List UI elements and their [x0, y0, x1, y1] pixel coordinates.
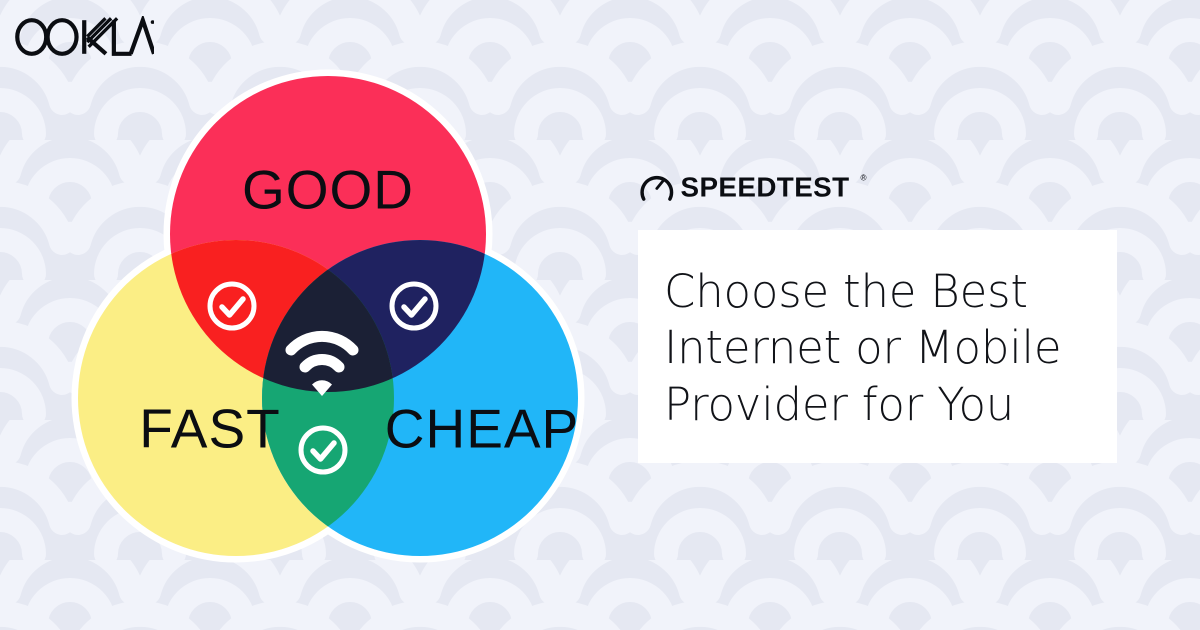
ookla-logo	[14, 16, 154, 58]
headline-line-2: Internet or Mobile	[664, 321, 1061, 374]
headline-card: Choose the Best Internet or Mobile Provi…	[638, 230, 1117, 463]
speedtest-logo: SPEEDTEST ® SPEEDTEST	[638, 168, 1118, 212]
svg-text:®: ®	[861, 173, 867, 182]
speedtest-wordmark: SPEEDTEST	[875, 168, 876, 169]
venn-label-cheap: CHEAP	[385, 398, 580, 460]
venn-label-good: GOOD	[242, 159, 414, 221]
svg-text:SPEEDTEST: SPEEDTEST	[681, 172, 850, 203]
right-content-column: SPEEDTEST ® SPEEDTEST Choose the Best In…	[638, 168, 1118, 463]
page-title: Choose the Best Internet or Mobile Provi…	[664, 264, 1091, 433]
poster-canvas: OOKLA	[0, 0, 1200, 630]
headline-line-1: Choose the Best	[664, 265, 1028, 318]
speedometer-gauge-icon	[642, 178, 671, 199]
venn-label-fast: FAST	[139, 398, 281, 460]
venn-diagram: GOOD FAST CHEAP	[48, 58, 608, 574]
headline-line-3: Provider for You	[664, 378, 1014, 431]
